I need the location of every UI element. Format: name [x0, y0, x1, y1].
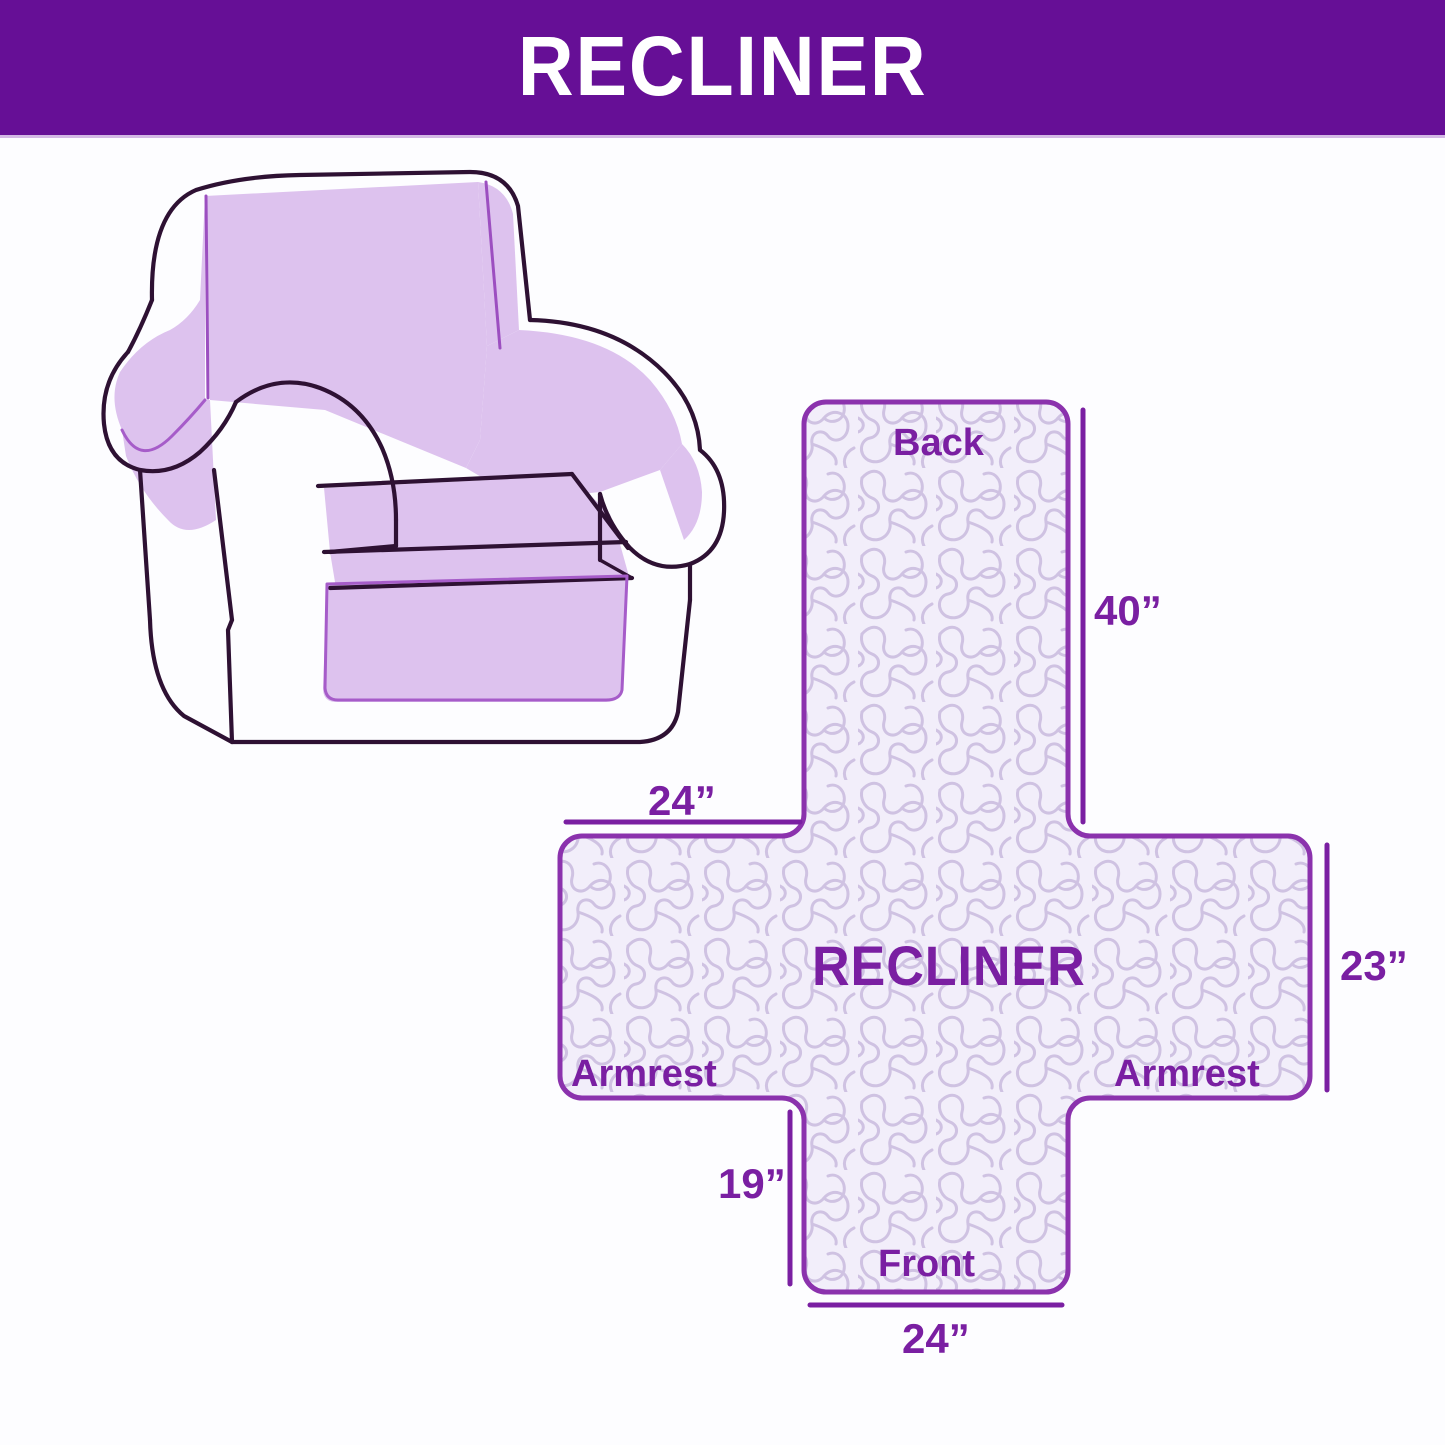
- dimension-label-back-height: 40”: [1094, 590, 1162, 632]
- quilted-fabric-fill: [555, 397, 1315, 1297]
- panel-label-front: Front: [878, 1245, 975, 1283]
- page-root: RECLINER: [0, 0, 1445, 1445]
- panel-label-back: Back: [893, 424, 984, 462]
- dimension-label-arm-height: 23”: [1340, 945, 1408, 987]
- dimension-label-arm-width: 24”: [648, 780, 716, 822]
- dimension-label-front-width: 24”: [902, 1318, 970, 1360]
- slipcover-cross-diagram: [0, 0, 1445, 1445]
- panel-label-center-recliner: RECLINER: [812, 938, 1086, 994]
- dimension-label-front-height: 19”: [718, 1163, 786, 1205]
- panel-label-armrest-left: Armrest: [571, 1055, 717, 1093]
- panel-label-armrest-right: Armrest: [1114, 1055, 1260, 1093]
